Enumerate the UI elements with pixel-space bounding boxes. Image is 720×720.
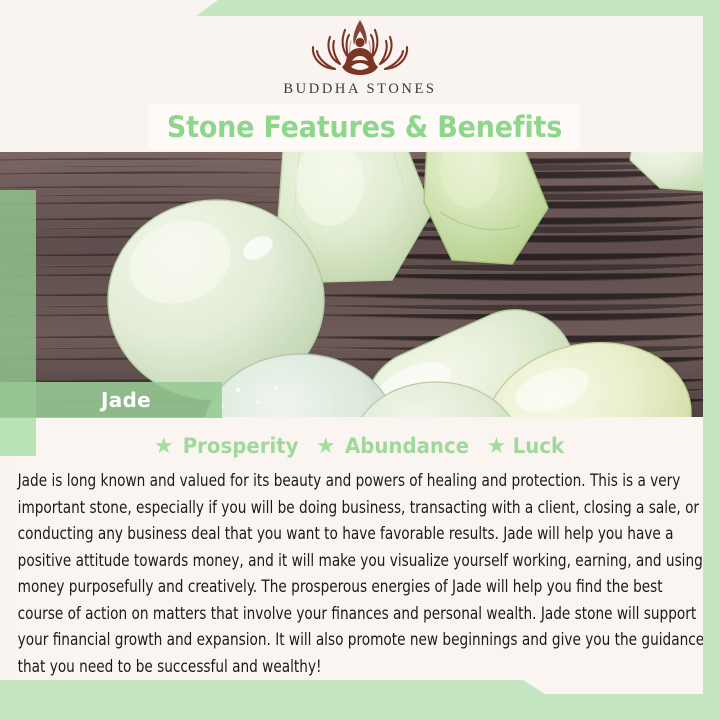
hero-image	[0, 152, 720, 417]
stone-info-card: BUDDHA STONES Stone Features & Benefits	[0, 0, 720, 720]
benefit-item-luck: ★ Luck	[487, 434, 566, 458]
title-banner: Stone Features & Benefits	[148, 104, 580, 150]
jade-stones-photo	[0, 152, 720, 417]
right-green-accent-bar	[703, 0, 720, 720]
brand-logo: BUDDHA STONES	[0, 14, 720, 106]
brand-name: BUDDHA STONES	[283, 81, 436, 98]
lotus-meditation-icon	[285, 14, 435, 80]
stone-description: Jade is long known and valued for its be…	[14, 466, 715, 680]
benefits-row: ★ Prosperity ★ Abundance ★ Luck	[14, 420, 706, 466]
benefit-label: Prosperity	[182, 434, 298, 458]
left-green-lower-strip	[0, 418, 36, 456]
bottom-green-accent-bar	[0, 694, 720, 720]
content-panel: ★ Prosperity ★ Abundance ★ Luck Jade is …	[14, 420, 706, 700]
star-icon: ★	[316, 435, 336, 457]
benefit-label: Abundance	[345, 434, 469, 458]
benefit-item-prosperity: ★ Prosperity	[154, 434, 302, 458]
star-icon: ★	[487, 435, 507, 457]
page-title: Stone Features & Benefits	[166, 110, 561, 144]
stone-name-badge: Jade	[0, 382, 222, 418]
star-icon: ★	[154, 435, 174, 457]
stone-name-label: Jade	[71, 388, 151, 412]
benefit-item-abundance: ★ Abundance	[316, 434, 473, 458]
benefit-label: Luck	[513, 434, 564, 458]
